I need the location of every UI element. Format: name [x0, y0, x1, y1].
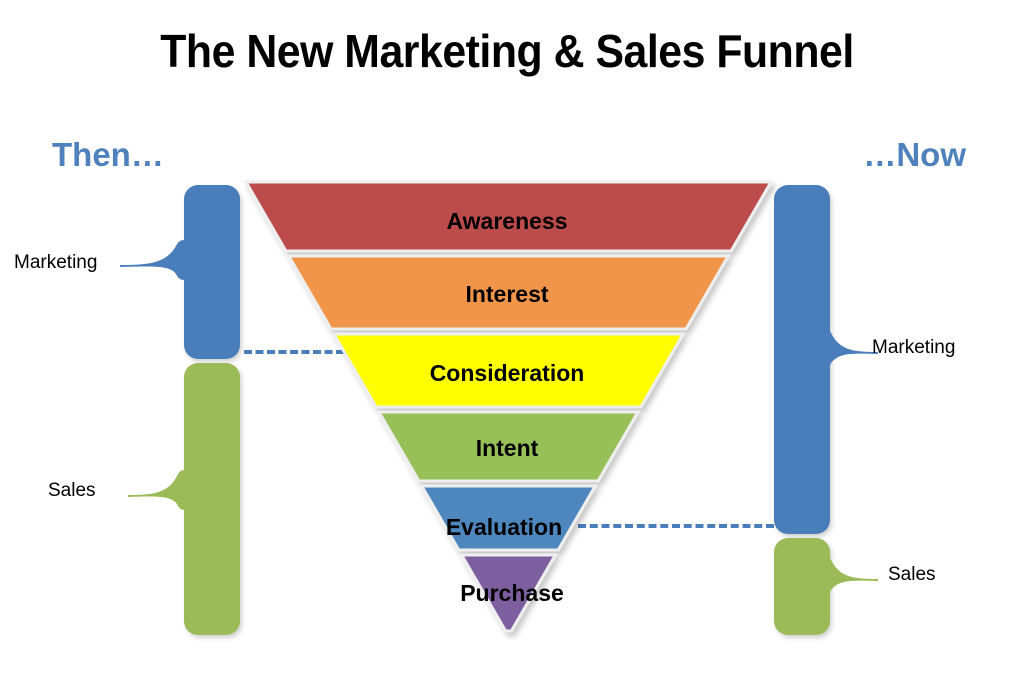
funnel-diagram-canvas: The New Marketing & Sales Funnel Then… …… [0, 0, 1014, 674]
era-label-then: Then… [52, 136, 164, 174]
funnel-band-evaluation[interactable] [422, 486, 595, 550]
funnel-svg [238, 178, 778, 640]
now-sales-brace-icon [822, 552, 878, 598]
funnel-band-interest[interactable] [289, 256, 728, 329]
funnel-band-consideration[interactable] [334, 334, 683, 407]
funnel-chart: AwarenessInterestConsiderationIntentEval… [238, 178, 778, 640]
then-sales-brace-icon [128, 470, 192, 510]
then-marketing-label: Marketing [14, 252, 97, 274]
funnel-band-awareness[interactable] [246, 182, 771, 251]
now-marketing-label: Marketing [872, 337, 955, 359]
then-marketing-brace-icon [120, 240, 192, 280]
page-title: The New Marketing & Sales Funnel [35, 24, 978, 78]
then-sales-label: Sales [48, 480, 96, 502]
now-sales-label: Sales [888, 564, 936, 586]
then-sales-bar [184, 363, 240, 635]
then-marketing-bar [184, 185, 240, 359]
now-marketing-brace-icon [822, 325, 878, 371]
funnel-band-purchase[interactable] [462, 555, 556, 631]
era-label-now: …Now [863, 136, 966, 174]
funnel-band-intent[interactable] [379, 412, 638, 481]
